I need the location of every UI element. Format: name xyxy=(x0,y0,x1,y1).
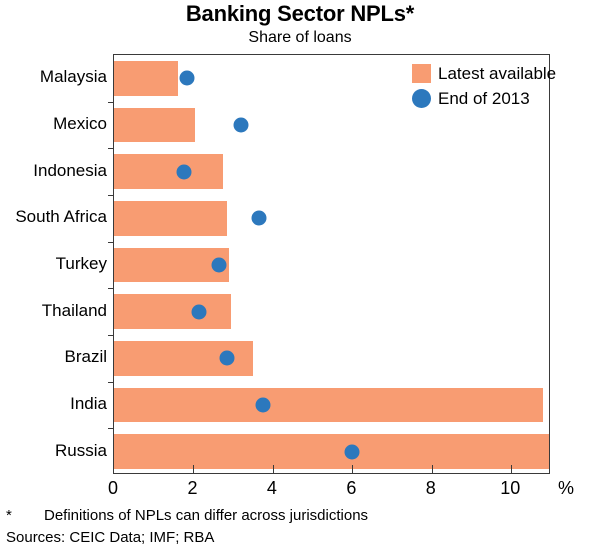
y-axis-tick xyxy=(108,382,114,383)
y-axis-tick xyxy=(108,102,114,103)
sources-text: Sources: CEIC Data; IMF; RBA xyxy=(6,527,596,549)
y-axis-label-indonesia: Indonesia xyxy=(33,161,107,181)
x-axis-tick-label: 2 xyxy=(187,478,197,498)
footnote: * Definitions of NPLs can differ across … xyxy=(6,505,596,527)
chart-title: Banking Sector NPLs* xyxy=(0,0,600,28)
y-axis-tick xyxy=(108,335,114,336)
y-axis-tick xyxy=(108,148,114,149)
x-axis-tick xyxy=(511,465,512,473)
x-axis-tick xyxy=(432,465,433,473)
x-axis-tick-label: 10 xyxy=(500,478,520,498)
legend-swatch-bar-icon xyxy=(412,64,431,83)
y-axis-tick xyxy=(108,195,114,196)
y-axis-label-south-africa: South Africa xyxy=(15,207,107,227)
footnote-marker: * xyxy=(6,505,44,527)
axis-ticks xyxy=(114,55,549,473)
y-axis-tick xyxy=(108,242,114,243)
y-axis-label-mexico: Mexico xyxy=(53,114,107,134)
legend-item-end-of-2013: End of 2013 xyxy=(412,87,556,109)
x-axis-tick-label: 4 xyxy=(267,478,277,498)
x-axis-tick-label: 6 xyxy=(346,478,356,498)
x-axis-tick-label: 8 xyxy=(426,478,436,498)
chart-legend: Latest available End of 2013 xyxy=(412,62,556,109)
plot-area xyxy=(113,54,550,474)
x-axis-unit-label: % xyxy=(558,478,574,498)
x-axis-tick xyxy=(352,465,353,473)
y-axis-tick xyxy=(108,288,114,289)
chart-subtitle: Share of loans xyxy=(0,28,600,48)
footnote-text: Definitions of NPLs can differ across ju… xyxy=(44,505,368,527)
y-axis-label-turkey: Turkey xyxy=(56,254,107,274)
x-axis-tick xyxy=(273,465,274,473)
y-axis-tick xyxy=(108,428,114,429)
y-axis-label-thailand: Thailand xyxy=(42,301,107,321)
y-axis-label-india: India xyxy=(70,394,107,414)
legend-label-latest-available: Latest available xyxy=(438,64,556,83)
y-axis-label-brazil: Brazil xyxy=(64,347,107,367)
legend-item-latest-available: Latest available xyxy=(412,62,556,84)
footnotes: * Definitions of NPLs can differ across … xyxy=(6,505,596,549)
y-axis-label-russia: Russia xyxy=(55,441,107,461)
legend-swatch-dot-icon xyxy=(412,89,431,108)
chart-container: Banking Sector NPLs* Share of loans Mala… xyxy=(0,0,600,559)
x-axis-tick-label: 0 xyxy=(108,478,118,498)
x-axis-tick xyxy=(193,465,194,473)
legend-label-end-of-2013: End of 2013 xyxy=(438,89,530,108)
y-axis-label-malaysia: Malaysia xyxy=(40,67,107,87)
